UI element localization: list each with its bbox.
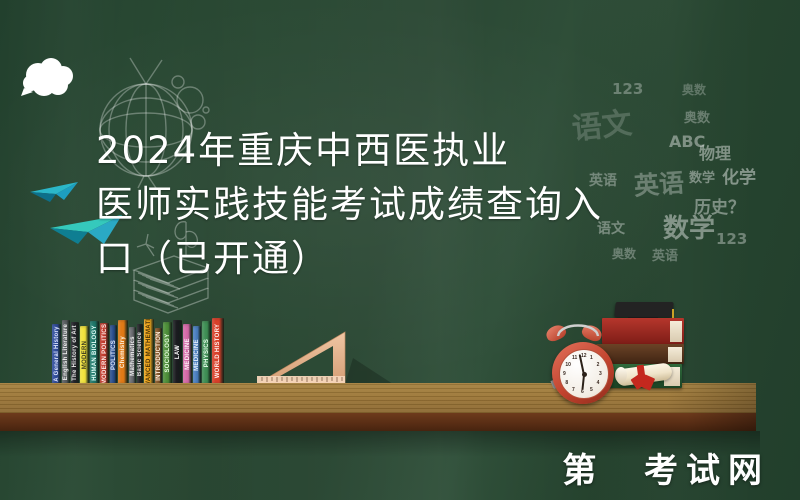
book-spine: MEDICINE: [193, 326, 201, 384]
clock-numeral: 6: [581, 389, 584, 395]
clock-numeral: 10: [565, 362, 571, 368]
wordcloud-item: 奥数: [682, 84, 706, 96]
book-spine-label: HUMAN BIOLOGY: [92, 325, 98, 381]
book-spine-label: MODERN: [82, 341, 88, 369]
wordcloud-item: 123: [716, 232, 747, 247]
book-spine-label: INTRODUCTION: [156, 331, 162, 381]
clock-numeral: 8: [565, 380, 568, 386]
book-row: A General HistoryEnglish LiteratureThe H…: [52, 318, 225, 384]
poster-banner: 123奥数语文奥数ABC物理英语英语数学化学历史？语文数学123奥数英语: [0, 0, 800, 500]
book-spine: Mathematics: [129, 327, 136, 384]
book-spine: MODERN: [80, 326, 89, 384]
book-spine: INTRODUCTION: [155, 328, 162, 384]
desk-still-life: 121234567891011: [540, 300, 760, 392]
clock-numeral: 11: [572, 355, 577, 361]
wordcloud-item: 物理: [699, 146, 731, 162]
clock-numeral: 1: [590, 355, 593, 361]
book-spine-label: Chemistry: [120, 336, 126, 368]
book-spine: A General History: [52, 324, 61, 384]
book-spine: The History of Art: [71, 322, 79, 384]
book-spine: MEDICINE: [183, 324, 192, 384]
title-line-1: 2024年重庆中西医执业: [96, 124, 696, 178]
chalk-cloud-icon: [18, 55, 82, 108]
clock-face: 121234567891011: [559, 349, 609, 399]
book-spine: SOCIOLOGY: [163, 322, 172, 384]
clock-numeral: 3: [599, 371, 602, 377]
book-spine-label: POLITICS: [111, 339, 117, 369]
wordcloud-item: 化学: [722, 170, 756, 187]
clock-body: 121234567891011: [552, 342, 614, 404]
book-spine-label: The History of Art: [72, 325, 78, 381]
clock-numeral: 12: [581, 353, 587, 359]
book-spine: POLITICS: [110, 325, 117, 384]
book-spine: PHYSICS: [202, 321, 211, 384]
clock-numeral: 9: [563, 371, 566, 377]
alarm-clock-icon: 121234567891011: [540, 314, 628, 392]
book-spine-label: A General History: [54, 326, 60, 382]
paper-airplane-small-icon: [28, 180, 80, 211]
book-spine-label: MEDICINE: [194, 339, 200, 371]
book-spine: ADVANCED MATHEMATICS: [144, 319, 154, 384]
book-spine: Chemistry: [118, 320, 128, 384]
book-spine-label: Mathematics: [130, 336, 136, 376]
book-spine: MODERN POLITICS: [100, 323, 109, 384]
clock-hour-hand: [581, 375, 585, 390]
book-spine-label: LAW: [175, 345, 181, 359]
book-spine-label: WORLD HISTORY: [215, 324, 221, 379]
book-spine-label: MODERN POLITICS: [102, 323, 108, 384]
book-spine: WORLD HISTORY: [212, 318, 224, 384]
clock-numeral: 5: [590, 387, 593, 393]
book-spine-label: Basic Science: [137, 332, 143, 376]
book-spine: LAW: [173, 320, 182, 384]
clock-numeral: 2: [597, 362, 600, 368]
book-spine-label: ADVANCED MATHEMATICS: [146, 319, 152, 384]
wordcloud-item: 123: [612, 82, 643, 97]
book-spine-label: PHYSICS: [204, 338, 210, 366]
book-spine: Basic Science: [137, 324, 143, 384]
book-spine-label: SOCIOLOGY: [165, 333, 171, 372]
clock-numeral: 4: [597, 380, 600, 386]
book-spine: HUMAN BIOLOGY: [90, 321, 99, 384]
page-title: 2024年重庆中西医执业 医师实践技能考试成绩查询入 口（已开通）: [96, 124, 696, 286]
book-spine-label: English Literature: [63, 324, 69, 380]
shelf-front-edge: [0, 413, 756, 431]
title-line-2: 医师实践技能考试成绩查询入: [96, 178, 696, 232]
title-line-3: 口（已开通）: [96, 232, 696, 286]
clock-numeral: 7: [572, 387, 575, 393]
site-watermark: 第 考试网: [562, 443, 770, 492]
book-spine: English Literature: [62, 320, 70, 384]
book-spine-label: MEDICINE: [185, 338, 191, 370]
